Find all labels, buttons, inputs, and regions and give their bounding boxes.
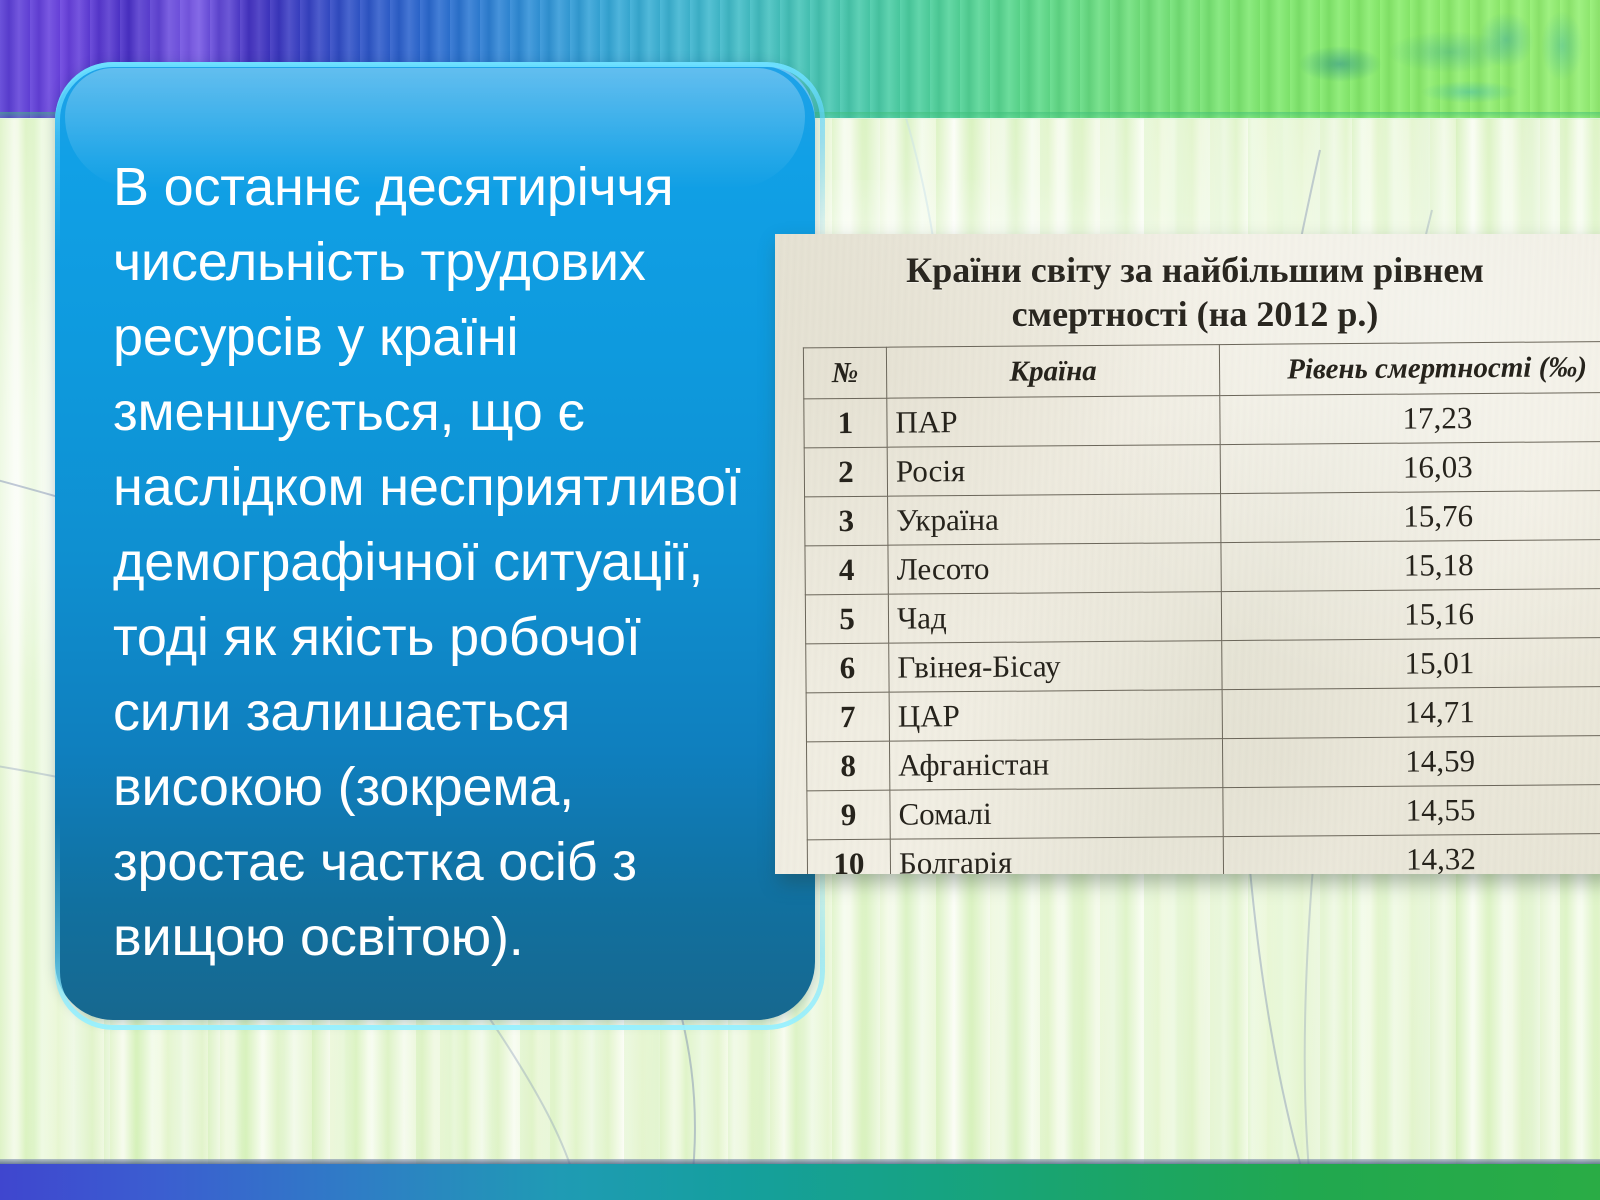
cell-rate: 14,59	[1222, 735, 1600, 787]
cell-number: 4	[805, 545, 888, 595]
cell-country: Чад	[888, 592, 1221, 644]
cell-number: 10	[807, 839, 890, 874]
cell-country: Росія	[887, 445, 1220, 497]
column-header-rate: Рівень смертності (‰)	[1219, 341, 1600, 395]
table-header-row: № Країна Рівень смертності (‰)	[803, 341, 1600, 399]
cell-country: Лесото	[888, 543, 1221, 595]
cell-rate: 15,16	[1221, 588, 1600, 640]
cell-rate: 14,71	[1222, 686, 1600, 738]
cell-country: Афганістан	[889, 739, 1222, 791]
cell-number: 1	[804, 398, 887, 448]
cell-rate: 15,76	[1221, 490, 1600, 542]
cell-country: Гвінея-Бісау	[889, 641, 1222, 693]
table-row: 3Україна15,76	[805, 490, 1600, 546]
world-map-watermark-icon	[1270, 0, 1600, 118]
table-row: 5Чад15,16	[805, 588, 1600, 644]
cell-rate: 16,03	[1220, 441, 1600, 493]
cell-country: Україна	[888, 494, 1221, 546]
table-row: 8Афганістан14,59	[806, 735, 1600, 791]
column-header-number: №	[803, 347, 886, 399]
cell-number: 9	[807, 790, 890, 840]
column-header-country: Країна	[886, 345, 1219, 399]
cell-country: ПАР	[887, 396, 1220, 448]
table-row: 9Сомалі14,55	[807, 784, 1600, 840]
table-row: 2Росія16,03	[804, 441, 1600, 497]
table-title-line-1: Країни світу за найбільшим рівнем	[797, 248, 1593, 292]
table-title: Країни світу за найбільшим рівнем смертн…	[797, 248, 1593, 336]
scanned-table-image: Країни світу за найбільшим рівнем смертн…	[775, 234, 1600, 874]
text-callout-box: В останнє десятиріччя чисельність трудов…	[55, 62, 815, 1020]
cell-number: 2	[804, 447, 887, 497]
table-row: 7ЦАР14,71	[806, 686, 1600, 742]
cell-country: Болгарія	[890, 837, 1223, 874]
mortality-rate-table: № Країна Рівень смертності (‰) 1ПАР17,23…	[803, 341, 1600, 874]
presentation-slide: В останнє десятиріччя чисельність трудов…	[0, 0, 1600, 1200]
table-row: 4Лесото15,18	[805, 539, 1600, 595]
cell-country: Сомалі	[890, 788, 1223, 840]
cell-number: 5	[805, 594, 888, 644]
table-row: 1ПАР17,23	[804, 392, 1600, 448]
cell-rate: 15,18	[1221, 539, 1600, 591]
cell-country: ЦАР	[889, 690, 1222, 742]
cell-number: 3	[805, 496, 888, 546]
cell-number: 7	[806, 692, 889, 742]
cell-rate: 15,01	[1222, 637, 1600, 689]
callout-body-text: В останнє десятиріччя чисельність трудов…	[113, 150, 773, 975]
cell-rate: 14,32	[1223, 833, 1600, 874]
bottom-color-band	[0, 1164, 1600, 1200]
table-row: 6Гвінея-Бісау15,01	[806, 637, 1600, 693]
cell-rate: 17,23	[1220, 392, 1600, 444]
cell-number: 6	[806, 643, 889, 693]
cell-number: 8	[806, 741, 889, 791]
table-row: 10Болгарія14,32	[807, 833, 1600, 874]
table-body: 1ПАР17,232Росія16,033Україна15,764Лесото…	[804, 392, 1600, 874]
cell-rate: 14,55	[1223, 784, 1600, 836]
table-title-line-2: смертності (на 2012 р.)	[797, 292, 1593, 336]
